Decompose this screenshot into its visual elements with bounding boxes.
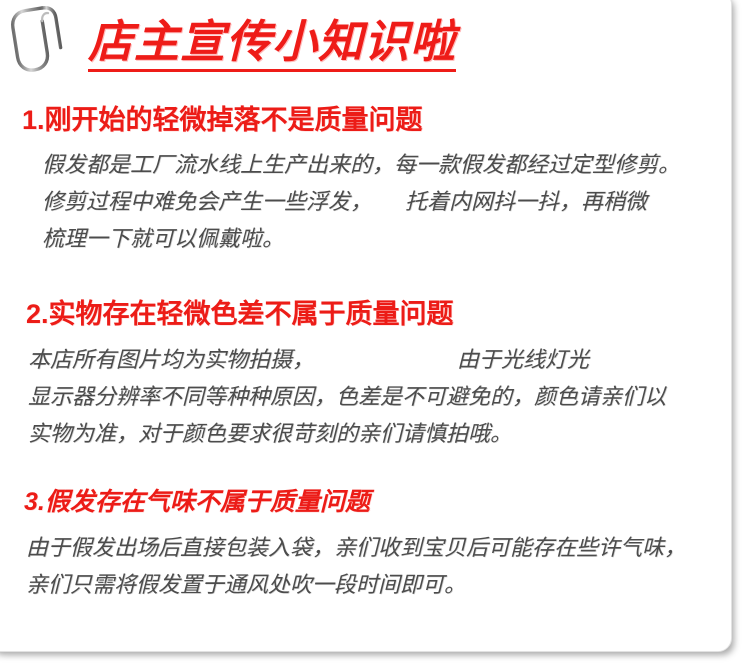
section-1-line-3: 梳理一下就可以佩戴啦。 xyxy=(42,220,750,257)
section-3-body: 由于假发出场后直接包装入袋，亲们收到宝贝后可能存在些许气味， 亲们只需将假发置于… xyxy=(26,529,750,603)
section-1-line-1: 假发都是工厂流水线上生产出来的，每一款假发都经过定型修剪。 xyxy=(42,146,750,183)
section-3-line-1: 由于假发出场后直接包装入袋，亲们收到宝贝后可能存在些许气味， xyxy=(26,529,750,566)
section-3: 3.假发存在气味不属于质量问题 由于假发出场后直接包装入袋，亲们收到宝贝后可能存… xyxy=(0,482,750,603)
section-1-body: 假发都是工厂流水线上生产出来的，每一款假发都经过定型修剪。 修剪过程中难免会产生… xyxy=(42,146,750,257)
page-title: 店主宣传小知识啦 xyxy=(88,18,456,72)
section-1-line-2: 修剪过程中难免会产生一些浮发， 托着内网抖一抖，再稍微 xyxy=(42,183,750,220)
page-root: 店主宣传小知识啦 1.刚开始的轻微掉落不是质量问题 假发都是工厂流水线上生产出来… xyxy=(0,0,750,669)
promo-content: 店主宣传小知识啦 1.刚开始的轻微掉落不是质量问题 假发都是工厂流水线上生产出来… xyxy=(0,0,750,669)
section-2-heading: 2.实物存在轻微色差不属于质量问题 xyxy=(26,292,750,331)
section-2-body: 本店所有图片均为实物拍摄， 由于光线灯光 显示器分辨率不同等种种原因，色差是不可… xyxy=(28,341,750,452)
section-2-line-1: 本店所有图片均为实物拍摄， 由于光线灯光 xyxy=(28,341,750,378)
section-3-heading: 3.假发存在气味不属于质量问题 xyxy=(24,482,750,518)
section-2-line-3: 实物为准，对于颜色要求很苛刻的亲们请慎拍哦。 xyxy=(28,415,750,452)
section-2: 2.实物存在轻微色差不属于质量问题 本店所有图片均为实物拍摄， 由于光线灯光 显… xyxy=(0,292,750,452)
section-1: 1.刚开始的轻微掉落不是质量问题 假发都是工厂流水线上生产出来的，每一款假发都经… xyxy=(0,98,750,257)
section-3-line-2: 亲们只需将假发置于通风处吹一段时间即可。 xyxy=(26,566,750,603)
section-1-heading: 1.刚开始的轻微掉落不是质量问题 xyxy=(22,98,750,137)
section-2-line-2: 显示器分辨率不同等种种原因，色差是不可避免的，颜色请亲们以 xyxy=(28,378,750,415)
